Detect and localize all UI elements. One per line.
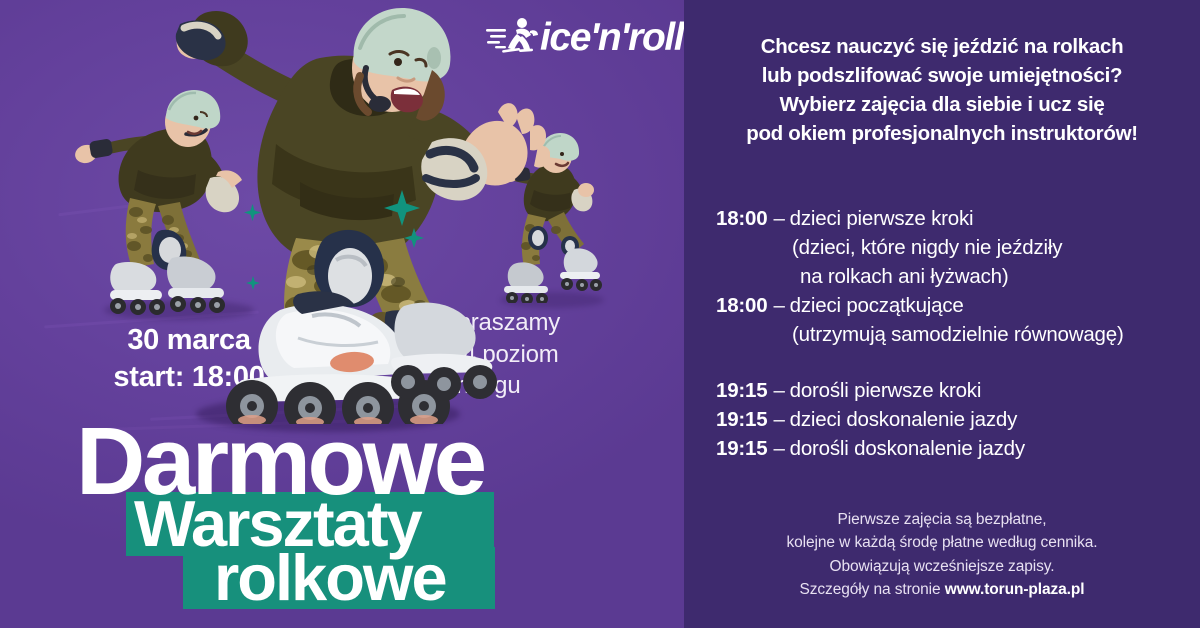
schedule-list: 18:00 – dzieci pierwsze kroki (dzieci, k… bbox=[716, 204, 1192, 463]
headline-line-1: Chcesz nauczyć się jeździć na rolkach bbox=[694, 32, 1190, 61]
headline-line-3: Wybierz zajęcia dla siebie i ucz się bbox=[694, 90, 1190, 119]
schedule-note: (dzieci, które nigdy nie jeździły bbox=[716, 233, 1192, 262]
footer-line-2: kolejne w każdą środę płatne według cenn… bbox=[700, 531, 1184, 554]
schedule-description: dorośli doskonalenie jazdy bbox=[790, 434, 1025, 463]
schedule-time: 18:00 bbox=[716, 291, 767, 320]
schedule-time: 18:00 bbox=[716, 204, 767, 233]
headline-text: Chcesz nauczyć się jeździć na rolkach lu… bbox=[694, 32, 1190, 148]
schedule-group-2: 18:00 – dzieci początkujące (utrzymują s… bbox=[716, 291, 1192, 349]
footer-line-1: Pierwsze zajęcia są bezpłatne, bbox=[700, 508, 1184, 531]
promo-poster: ice'n'roll 30 marca start: 18:00 Zaprasz… bbox=[0, 0, 1200, 628]
footer-text: Pierwsze zajęcia są bezpłatne, kolejne w… bbox=[700, 508, 1184, 601]
left-panel: ice'n'roll 30 marca start: 18:00 Zaprasz… bbox=[0, 0, 684, 628]
sparkle-icon bbox=[404, 228, 424, 248]
schedule-description: dzieci pierwsze kroki bbox=[790, 204, 974, 233]
footer-line-3: Obowiązują wcześniejsze zapisy. bbox=[700, 555, 1184, 578]
schedule-time: 19:15 bbox=[716, 376, 767, 405]
schedule-dash: – bbox=[767, 434, 789, 463]
schedule-dash: – bbox=[767, 291, 789, 320]
schedule-group-3: 19:15 – dorośli pierwsze kroki 19:15 – d… bbox=[716, 376, 1192, 463]
headline-line-4: pod okiem profesjonalnych instruktorów! bbox=[694, 119, 1190, 148]
schedule-row: 19:15 – dzieci doskonalenie jazdy bbox=[716, 405, 1192, 434]
headline-line-2: lub podszlifować swoje umiejętności? bbox=[694, 61, 1190, 90]
poster-title-sub2: rolkowe bbox=[214, 547, 446, 609]
schedule-note: (utrzymują samodzielnie równowagę) bbox=[716, 320, 1192, 349]
schedule-time: 19:15 bbox=[716, 434, 767, 463]
schedule-row: 18:00 – dzieci początkujące bbox=[716, 291, 1192, 320]
skater-figure-main bbox=[150, 0, 550, 424]
schedule-description: dorośli pierwsze kroki bbox=[790, 376, 982, 405]
schedule-description: dzieci początkujące bbox=[790, 291, 964, 320]
brand-logo-text: ice'n'roll bbox=[540, 18, 683, 57]
schedule-dash: – bbox=[767, 376, 789, 405]
website-url[interactable]: www.torun-plaza.pl bbox=[945, 581, 1085, 598]
schedule-row: 19:15 – dorośli pierwsze kroki bbox=[716, 376, 1192, 405]
footer-url-prefix: Szczegóły na stronie bbox=[800, 581, 945, 598]
schedule-row: 18:00 – dzieci pierwsze kroki bbox=[716, 204, 1192, 233]
schedule-dash: – bbox=[767, 204, 789, 233]
schedule-group-1: 18:00 – dzieci pierwsze kroki (dzieci, k… bbox=[716, 204, 1192, 291]
sparkle-icon bbox=[244, 204, 261, 221]
schedule-time: 19:15 bbox=[716, 405, 767, 434]
footer-line-4: Szczegóły na stronie www.torun-plaza.pl bbox=[700, 578, 1184, 601]
schedule-spacer bbox=[716, 350, 1192, 376]
sparkle-icon bbox=[246, 276, 260, 290]
schedule-dash: – bbox=[767, 405, 789, 434]
schedule-description: dzieci doskonalenie jazdy bbox=[790, 405, 1017, 434]
sparkle-icon bbox=[384, 190, 420, 226]
schedule-note: na rolkach ani łyżwach) bbox=[716, 262, 1192, 291]
schedule-row: 19:15 – dorośli doskonalenie jazdy bbox=[716, 434, 1192, 463]
